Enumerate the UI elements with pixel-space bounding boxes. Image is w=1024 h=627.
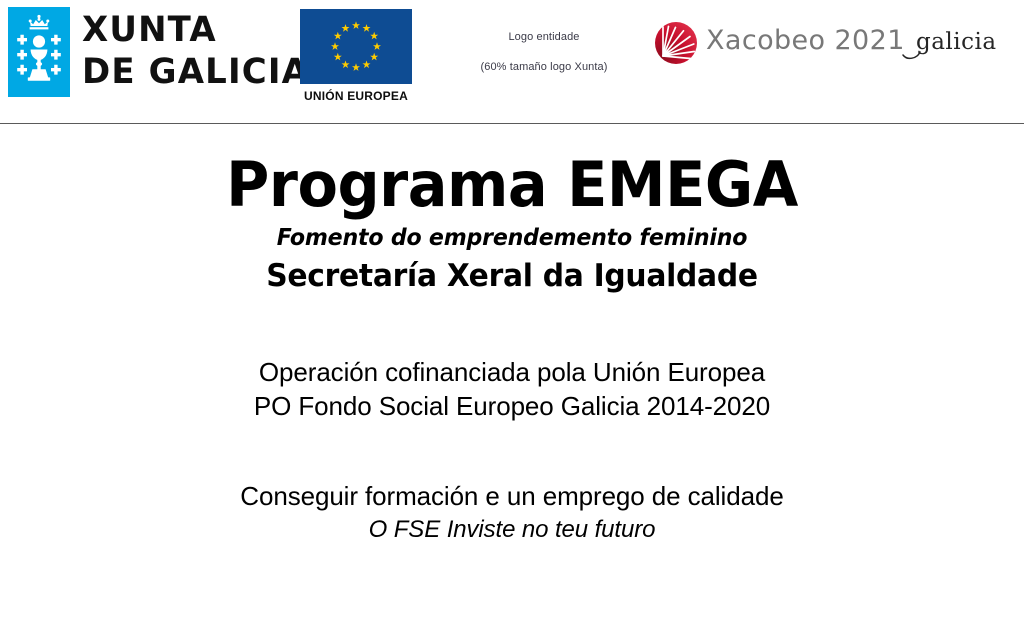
entity-placeholder-line2: (60% tamaño logo Xunta) xyxy=(444,60,644,74)
funding-statement: Operación cofinanciada pola Unión Europe… xyxy=(0,355,1024,423)
xunta-wordmark: XUNTA DE GALICIA xyxy=(82,9,288,93)
galicia-coat-of-arms-icon xyxy=(8,7,70,97)
eu-flag-icon xyxy=(300,9,412,84)
funding-line-1: Operación cofinanciada pola Unión Europe… xyxy=(0,355,1024,389)
funding-line-2: PO Fondo Social Europeo Galicia 2014-202… xyxy=(0,389,1024,423)
eu-logo-caption: UNIÓN EUROPEA xyxy=(300,89,412,103)
entity-logo-placeholder: Logo entidade (60% tamaño logo Xunta) xyxy=(444,30,644,74)
entity-placeholder-line1: Logo entidade xyxy=(444,30,644,44)
logo-header-bar: XUNTA DE GALICIA xyxy=(0,0,1024,123)
page-subtitle: Fomento do emprendemento feminino xyxy=(20,223,1003,253)
xacobeo-wordmark: Xacobeo 2021 xyxy=(706,25,905,56)
department-name: Secretaría Xeral da Igualdade xyxy=(20,256,1003,296)
xacobeo-2021-logo: Xacobeo 2021 xyxy=(652,19,850,67)
slogan-block: Conseguir formación e un emprego de cali… xyxy=(0,479,1024,546)
poster-content: Programa EMEGA Fomento do emprendemento … xyxy=(0,124,1024,627)
slogan-secondary: O FSE Inviste no teu futuro xyxy=(0,513,1024,546)
slogan-primary: Conseguir formación e un emprego de cali… xyxy=(0,479,1024,513)
svg-text:galicia: galicia xyxy=(916,29,997,55)
european-union-logo: UNIÓN EUROPEA xyxy=(300,9,412,109)
title-block: Programa EMEGA Fomento do emprendemento … xyxy=(0,151,1024,296)
scallop-shell-icon xyxy=(652,19,700,67)
xunta-wordmark-line1: XUNTA xyxy=(82,9,282,51)
xunta-de-galicia-logo: XUNTA DE GALICIA xyxy=(8,7,286,97)
page-title: Programa EMEGA xyxy=(26,151,999,219)
galicia-wordmark-logo: galicia xyxy=(900,22,1004,64)
xunta-wordmark-line2: DE GALICIA xyxy=(82,51,282,93)
